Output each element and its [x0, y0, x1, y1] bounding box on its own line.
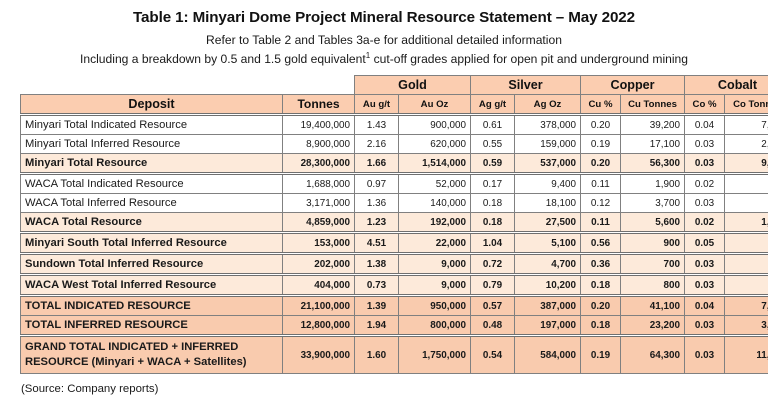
- cell-co_pct: 0.03: [685, 336, 725, 374]
- cell-au_oz: 950,000: [399, 296, 471, 316]
- cell-co_pct: 0.03: [685, 154, 725, 174]
- table-head: Gold Silver Copper Cobalt Deposit Tonnes…: [21, 76, 768, 115]
- group-header-copper: Copper: [581, 76, 685, 95]
- cell-au_oz: 9,000: [399, 275, 471, 296]
- table-group-header-row: Gold Silver Copper Cobalt: [21, 76, 768, 95]
- table-row: Minyari Total Indicated Resource19,400,0…: [21, 115, 768, 135]
- cell-au_gt: 1.36: [355, 194, 399, 213]
- group-header-cobalt: Cobalt: [685, 76, 768, 95]
- cell-ag_gt: 0.55: [471, 135, 515, 154]
- cell-au_oz: 9,000: [399, 254, 471, 275]
- column-header-tonnes: Tonnes: [283, 95, 355, 115]
- subtitle-line-2-text-before: Including a breakdown by 0.5 and 1.5 gol…: [80, 52, 366, 66]
- cell-au_oz: 192,000: [399, 213, 471, 233]
- cell-co_tonnes: 2,230: [725, 135, 768, 154]
- cell-cu_pct: 0.11: [581, 213, 621, 233]
- source-note: (Source: Company reports): [0, 374, 768, 395]
- table-column-header-row: Deposit Tonnes Au g/t Au Oz Ag g/t Ag Oz…: [21, 95, 768, 115]
- cell-cu_pct: 0.20: [581, 154, 621, 174]
- cell-au_gt: 1.66: [355, 154, 399, 174]
- cell-co_tonnes: 80: [725, 233, 768, 254]
- cell-co_tonnes: 860: [725, 194, 768, 213]
- cell-ag_oz: 4,700: [515, 254, 581, 275]
- cell-cu_pct: 0.19: [581, 135, 621, 154]
- mineral-resource-table: Gold Silver Copper Cobalt Deposit Tonnes…: [20, 75, 768, 374]
- cell-co_pct: 0.03: [685, 316, 725, 336]
- table-row: TOTAL INDICATED RESOURCE21,100,0001.3995…: [21, 296, 768, 316]
- column-header-ag-gt: Ag g/t: [471, 95, 515, 115]
- cell-co_pct: 0.05: [685, 233, 725, 254]
- cell-tonnes: 33,900,000: [283, 336, 355, 374]
- table-row: GRAND TOTAL INDICATED + INFERRED RESOURC…: [21, 336, 768, 374]
- cell-au_oz: 22,000: [399, 233, 471, 254]
- cell-ag_oz: 18,100: [515, 194, 581, 213]
- cell-au_gt: 1.43: [355, 115, 399, 135]
- cell-co_pct: 0.03: [685, 194, 725, 213]
- cell-au_gt: 1.38: [355, 254, 399, 275]
- cell-co_tonnes: 3,400: [725, 316, 768, 336]
- cell-au_oz: 140,000: [399, 194, 471, 213]
- cell-co_tonnes: 310: [725, 174, 768, 194]
- cell-ag_gt: 0.61: [471, 115, 515, 135]
- cell-deposit: TOTAL INDICATED RESOURCE: [21, 296, 283, 316]
- cell-au_gt: 1.94: [355, 316, 399, 336]
- cell-cu_tonnes: 1,900: [621, 174, 685, 194]
- cell-au_gt: 0.73: [355, 275, 399, 296]
- cell-co_pct: 0.03: [685, 275, 725, 296]
- cell-au_gt: 1.60: [355, 336, 399, 374]
- cell-cu_tonnes: 64,300: [621, 336, 685, 374]
- cell-tonnes: 202,000: [283, 254, 355, 275]
- subtitle-line-1: Refer to Table 2 and Tables 3a-e for add…: [0, 33, 768, 48]
- cell-cu_tonnes: 5,600: [621, 213, 685, 233]
- cell-tonnes: 404,000: [283, 275, 355, 296]
- column-header-deposit: Deposit: [21, 95, 283, 115]
- group-header-silver: Silver: [471, 76, 581, 95]
- subtitle-line-2: Including a breakdown by 0.5 and 1.5 gol…: [0, 52, 768, 67]
- cell-au_oz: 52,000: [399, 174, 471, 194]
- cell-ag_gt: 0.18: [471, 194, 515, 213]
- cell-cu_tonnes: 17,100: [621, 135, 685, 154]
- header-spacer-deposit: [21, 76, 283, 95]
- cell-deposit: TOTAL INFERRED RESOURCE: [21, 316, 283, 336]
- cell-deposit: Minyari South Total Inferred Resource: [21, 233, 283, 254]
- cell-au_oz: 900,000: [399, 115, 471, 135]
- cell-co_pct: 0.03: [685, 254, 725, 275]
- cell-au_gt: 2.16: [355, 135, 399, 154]
- table-row: WACA Total Inferred Resource3,171,0001.3…: [21, 194, 768, 213]
- column-header-cu-tonnes: Cu Tonnes: [621, 95, 685, 115]
- cell-cu_tonnes: 900: [621, 233, 685, 254]
- cell-deposit: WACA Total Resource: [21, 213, 283, 233]
- cell-tonnes: 21,100,000: [283, 296, 355, 316]
- cell-deposit: Minyari Total Resource: [21, 154, 283, 174]
- cell-co_pct: 0.04: [685, 115, 725, 135]
- cell-deposit: GRAND TOTAL INDICATED + INFERRED RESOURC…: [21, 336, 283, 374]
- page-title: Table 1: Minyari Dome Project Mineral Re…: [0, 9, 768, 26]
- cell-au_oz: 800,000: [399, 316, 471, 336]
- table-body: Minyari Total Indicated Resource19,400,0…: [21, 115, 768, 374]
- cell-co_pct: 0.03: [685, 135, 725, 154]
- cell-ag_oz: 584,000: [515, 336, 581, 374]
- document-page: Table 1: Minyari Dome Project Mineral Re…: [0, 0, 768, 414]
- cell-ag_oz: 159,000: [515, 135, 581, 154]
- cell-ag_oz: 197,000: [515, 316, 581, 336]
- column-header-au-gt: Au g/t: [355, 95, 399, 115]
- cell-cu_pct: 0.20: [581, 115, 621, 135]
- cell-deposit: Minyari Total Indicated Resource: [21, 115, 283, 135]
- cell-tonnes: 153,000: [283, 233, 355, 254]
- cell-cu_pct: 0.19: [581, 336, 621, 374]
- column-header-co-tonnes: Co Tonnes: [725, 95, 768, 115]
- cell-ag_oz: 378,000: [515, 115, 581, 135]
- table-row: WACA Total Resource4,859,0001.23192,0000…: [21, 213, 768, 233]
- cell-ag_oz: 537,000: [515, 154, 581, 174]
- cell-cu_tonnes: 700: [621, 254, 685, 275]
- table-row: WACA West Total Inferred Resource404,000…: [21, 275, 768, 296]
- cell-au_oz: 620,000: [399, 135, 471, 154]
- cell-cu_tonnes: 23,200: [621, 316, 685, 336]
- cell-deposit: WACA Total Indicated Resource: [21, 174, 283, 194]
- table-row: Sundown Total Inferred Resource202,0001.…: [21, 254, 768, 275]
- cell-co_tonnes: 9,610: [725, 154, 768, 174]
- column-header-au-oz: Au Oz: [399, 95, 471, 115]
- cell-cu_tonnes: 56,300: [621, 154, 685, 174]
- column-header-co-pct: Co %: [685, 95, 725, 115]
- cell-au_oz: 1,750,000: [399, 336, 471, 374]
- group-header-gold: Gold: [355, 76, 471, 95]
- cell-tonnes: 4,859,000: [283, 213, 355, 233]
- cell-deposit: Sundown Total Inferred Resource: [21, 254, 283, 275]
- cell-tonnes: 28,300,000: [283, 154, 355, 174]
- cell-au_gt: 0.97: [355, 174, 399, 194]
- table-container: Gold Silver Copper Cobalt Deposit Tonnes…: [0, 71, 768, 374]
- cell-cu_pct: 0.36: [581, 254, 621, 275]
- cell-ag_oz: 10,200: [515, 275, 581, 296]
- table-row: Minyari Total Resource28,300,0001.661,51…: [21, 154, 768, 174]
- cell-co_pct: 0.02: [685, 213, 725, 233]
- title-block: Table 1: Minyari Dome Project Mineral Re…: [0, 0, 768, 67]
- cell-ag_gt: 0.57: [471, 296, 515, 316]
- cell-ag_oz: 9,400: [515, 174, 581, 194]
- cell-deposit: WACA Total Inferred Resource: [21, 194, 283, 213]
- cell-tonnes: 8,900,000: [283, 135, 355, 154]
- cell-au_oz: 1,514,000: [399, 154, 471, 174]
- cell-ag_gt: 0.72: [471, 254, 515, 275]
- cell-co_pct: 0.02: [685, 174, 725, 194]
- cell-au_gt: 4.51: [355, 233, 399, 254]
- cell-cu_pct: 0.12: [581, 194, 621, 213]
- cell-ag_oz: 5,100: [515, 233, 581, 254]
- column-header-cu-pct: Cu %: [581, 95, 621, 115]
- cell-tonnes: 12,800,000: [283, 316, 355, 336]
- table-row: Minyari Total Inferred Resource8,900,000…: [21, 135, 768, 154]
- cell-ag_gt: 0.59: [471, 154, 515, 174]
- cell-tonnes: 3,171,000: [283, 194, 355, 213]
- cell-cu_tonnes: 800: [621, 275, 685, 296]
- column-header-ag-oz: Ag Oz: [515, 95, 581, 115]
- cell-au_gt: 1.23: [355, 213, 399, 233]
- cell-deposit: WACA West Total Inferred Resource: [21, 275, 283, 296]
- header-spacer-tonnes: [283, 76, 355, 95]
- cell-cu_tonnes: 39,200: [621, 115, 685, 135]
- cell-co_pct: 0.04: [685, 296, 725, 316]
- cell-cu_pct: 0.20: [581, 296, 621, 316]
- cell-cu_tonnes: 3,700: [621, 194, 685, 213]
- cell-co_tonnes: 7,700: [725, 296, 768, 316]
- cell-cu_pct: 0.56: [581, 233, 621, 254]
- cell-tonnes: 1,688,000: [283, 174, 355, 194]
- table-row: WACA Total Indicated Resource1,688,0000.…: [21, 174, 768, 194]
- cell-ag_gt: 0.79: [471, 275, 515, 296]
- cell-co_tonnes: 11,100: [725, 336, 768, 374]
- cell-co_tonnes: 60: [725, 254, 768, 275]
- cell-au_gt: 1.39: [355, 296, 399, 316]
- cell-cu_tonnes: 41,100: [621, 296, 685, 316]
- cell-ag_gt: 0.48: [471, 316, 515, 336]
- cell-deposit: Minyari Total Inferred Resource: [21, 135, 283, 154]
- cell-co_tonnes: 120: [725, 275, 768, 296]
- cell-ag_gt: 0.54: [471, 336, 515, 374]
- table-row: Minyari South Total Inferred Resource153…: [21, 233, 768, 254]
- cell-cu_pct: 0.11: [581, 174, 621, 194]
- cell-cu_pct: 0.18: [581, 316, 621, 336]
- subtitle-line-2-text-after: cut-off grades applied for open pit and …: [370, 52, 688, 66]
- cell-ag_oz: 27,500: [515, 213, 581, 233]
- cell-tonnes: 19,400,000: [283, 115, 355, 135]
- cell-ag_gt: 1.04: [471, 233, 515, 254]
- cell-ag_gt: 0.17: [471, 174, 515, 194]
- cell-cu_pct: 0.18: [581, 275, 621, 296]
- cell-co_tonnes: 1,170: [725, 213, 768, 233]
- table-row: TOTAL INFERRED RESOURCE12,800,0001.94800…: [21, 316, 768, 336]
- cell-co_tonnes: 7,380: [725, 115, 768, 135]
- cell-ag_gt: 0.18: [471, 213, 515, 233]
- cell-ag_oz: 387,000: [515, 296, 581, 316]
